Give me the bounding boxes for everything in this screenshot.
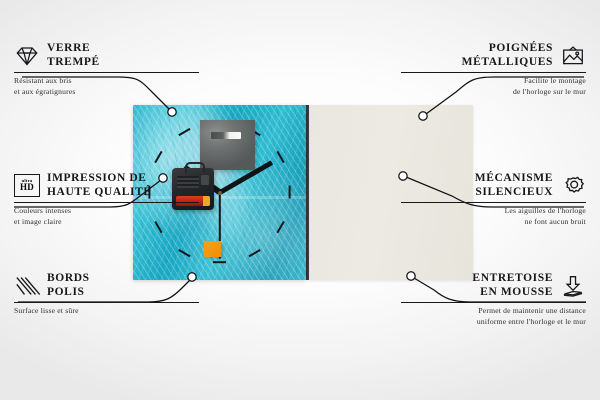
- feature-title-line1: ENTRETOISE: [472, 272, 553, 286]
- gear-icon: [560, 175, 586, 197]
- arrow-down-pad-icon: [560, 275, 586, 297]
- feature-divider: [14, 72, 199, 73]
- feature-title-line1: IMPRESSION DE: [47, 172, 152, 186]
- feature-desc-line1: Couleurs intenses: [14, 206, 199, 217]
- feature-mecanisme-silencieux: MÉCANISME SILENCIEUX Les aiguilles de l'…: [401, 172, 586, 228]
- foam-spacer-part: [204, 241, 221, 257]
- feature-title-line1: MÉCANISME: [475, 172, 553, 186]
- feature-title-line1: POIGNÉES: [462, 42, 553, 56]
- feature-heading: POIGNÉES MÉTALLIQUES: [401, 42, 586, 69]
- infographic-canvas: VERRE TREMPÉ Résistant aux bris et aux é…: [0, 0, 600, 400]
- feature-title: MÉCANISME SILENCIEUX: [475, 172, 553, 199]
- feature-title-line1: BORDS: [47, 272, 90, 286]
- feature-description: Permet de maintenir une distance uniform…: [401, 306, 586, 328]
- hanger-slot: [211, 132, 241, 139]
- diamond-icon: [14, 45, 40, 67]
- polished-edge-lines-icon: [14, 275, 40, 297]
- feature-heading: ultra HD IMPRESSION DE HAUTE QUALITÉ: [14, 172, 199, 199]
- feature-description: Facilite le montage de l'horloge sur le …: [401, 76, 586, 98]
- feature-title: POIGNÉES MÉTALLIQUES: [462, 42, 553, 69]
- feature-description: Les aiguilles de l'horloge ne font aucun…: [401, 206, 586, 228]
- feature-verre-trempe: VERRE TREMPÉ Résistant aux bris et aux é…: [14, 42, 199, 98]
- feature-divider: [14, 202, 199, 203]
- feature-divider: [401, 302, 586, 303]
- picture-frame-icon: [560, 45, 586, 67]
- ultra-hd-badge-icon: ultra HD: [14, 174, 40, 197]
- feature-desc-line1: Permet de maintenir une distance: [401, 306, 586, 317]
- feature-desc-line1: Résistant aux bris: [14, 76, 199, 87]
- clock-tick: [288, 186, 290, 199]
- feature-title-line2: EN MOUSSE: [472, 286, 553, 300]
- feature-description: Résistant aux bris et aux égratignures: [14, 76, 199, 98]
- feature-title: ENTRETOISE EN MOUSSE: [472, 272, 553, 299]
- feature-entretoise-mousse: ENTRETOISE EN MOUSSE Permet de maintenir…: [401, 272, 586, 328]
- feature-heading: ENTRETOISE EN MOUSSE: [401, 272, 586, 299]
- feature-title-line2: TREMPÉ: [47, 56, 100, 70]
- feature-desc-line2: et aux égratignures: [14, 87, 199, 98]
- feature-title-line2: HAUTE QUALITÉ: [47, 186, 152, 200]
- feature-description: Couleurs intenses et image claire: [14, 206, 199, 228]
- feature-poignees-metalliques: POIGNÉES MÉTALLIQUES Facilite le montage…: [401, 42, 586, 98]
- feature-desc-line1: Surface lisse et sûre: [14, 306, 199, 317]
- badge-main-text: HD: [20, 183, 34, 192]
- mechanism-button: [201, 175, 209, 185]
- feature-desc-line2: ne font aucun bruit: [401, 217, 586, 228]
- feature-title: BORDS POLIS: [47, 272, 90, 299]
- feature-desc-line2: uniforme entre l'horloge et le mur: [401, 317, 586, 328]
- feature-title-line2: POLIS: [47, 286, 90, 300]
- feature-title: VERRE TREMPÉ: [47, 42, 100, 69]
- feature-description: Surface lisse et sûre: [14, 306, 199, 317]
- feature-heading: VERRE TREMPÉ: [14, 42, 199, 69]
- feature-divider: [401, 72, 586, 73]
- feature-heading: BORDS POLIS: [14, 272, 199, 299]
- feature-desc-line2: et image claire: [14, 217, 199, 228]
- feature-desc-line1: Facilite le montage: [401, 76, 586, 87]
- feature-divider: [401, 202, 586, 203]
- feature-desc-line2: de l'horloge sur le mur: [401, 87, 586, 98]
- feature-title-line1: VERRE: [47, 42, 100, 56]
- feature-bords-polis: BORDS POLIS Surface lisse et sûre: [14, 272, 199, 317]
- feature-title: IMPRESSION DE HAUTE QUALITÉ: [47, 172, 152, 199]
- feature-desc-line1: Les aiguilles de l'horloge: [401, 206, 586, 217]
- feature-divider: [14, 302, 199, 303]
- metallic-handle-part: [200, 120, 255, 170]
- battery-positive-terminal: [203, 196, 210, 206]
- feature-heading: MÉCANISME SILENCIEUX: [401, 172, 586, 199]
- feature-impression-hd: ultra HD IMPRESSION DE HAUTE QUALITÉ Cou…: [14, 172, 199, 228]
- feature-title-line2: SILENCIEUX: [475, 186, 553, 200]
- clock-center-pin: [218, 191, 222, 195]
- feature-title-line2: MÉTALLIQUES: [462, 56, 553, 70]
